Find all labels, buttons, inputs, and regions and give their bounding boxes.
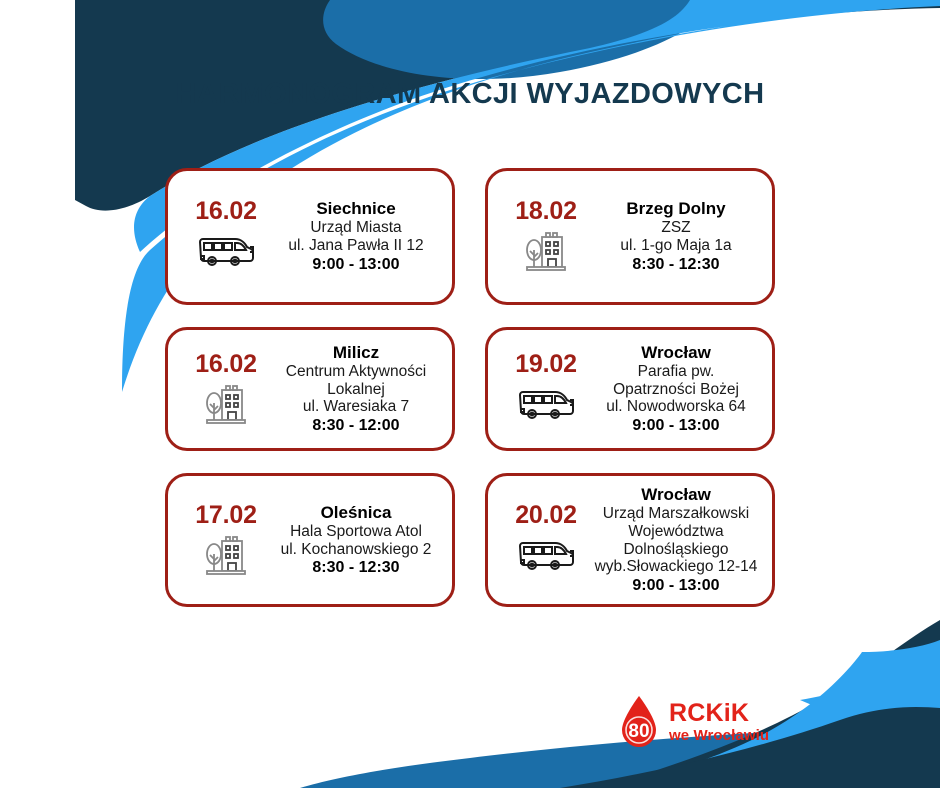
- card-hours: 8:30 - 12:30: [274, 559, 438, 577]
- card-date: 17.02: [195, 503, 257, 528]
- card-place: Centrum Aktywności: [274, 363, 438, 381]
- top-mid-blue-shape: [323, 0, 720, 79]
- card-info: Oleśnica Hala Sportowa Atol ul. Kochanow…: [274, 503, 440, 578]
- bottom-right-light-blue-wave: [800, 652, 940, 744]
- card-city: Brzeg Dolny: [594, 199, 758, 218]
- card-info: Wrocław Parafia pw. Opatrzności Bożej ul…: [594, 343, 760, 436]
- card-hours: 9:00 - 13:00: [594, 417, 758, 435]
- schedule-card[interactable]: 19.02: [485, 327, 775, 451]
- schedule-card[interactable]: 18.02: [485, 168, 775, 305]
- card-hours: 8:30 - 12:30: [594, 256, 758, 274]
- schedule-card[interactable]: 16.02: [165, 327, 455, 451]
- building-tree-icon: [195, 381, 257, 427]
- card-hours: 9:00 - 13:00: [594, 577, 758, 595]
- card-city: Wrocław: [594, 343, 758, 362]
- card-date: 18.02: [515, 199, 577, 224]
- poster: HARMONOGRAM AKCJI WYJAZDOWYCH 16.02: [0, 0, 940, 788]
- schedule-row: 16.02: [0, 327, 940, 451]
- bus-icon: [515, 381, 577, 427]
- logo-subtitle: we Wrocławiu: [669, 728, 769, 743]
- schedule-row: 16.02: [0, 168, 940, 305]
- schedule-grid: 16.02: [0, 168, 940, 629]
- card-left-column: 16.02: [178, 352, 274, 427]
- card-address: ul. 1-go Maja 1a: [594, 237, 758, 255]
- card-address: ul. Nowodworska 64: [594, 398, 758, 416]
- card-date: 19.02: [515, 352, 577, 377]
- card-place: Urząd Marszałkowski: [594, 505, 758, 523]
- bus-icon: [515, 532, 577, 578]
- card-city: Milicz: [274, 343, 438, 362]
- card-place: Hala Sportowa Atol: [274, 523, 438, 541]
- card-date: 16.02: [195, 352, 257, 377]
- card-place: Parafia pw.: [594, 363, 758, 381]
- card-info: Milicz Centrum Aktywności Lokalnej ul. W…: [274, 343, 440, 436]
- card-place-line2: Województwa Dolnośląskiego: [594, 523, 758, 558]
- card-left-column: 16.02: [178, 199, 274, 274]
- card-address: ul. Kochanowskiego 2: [274, 541, 438, 559]
- logo-name: RCKiK: [669, 701, 769, 726]
- card-place-line2: Lokalnej: [274, 381, 438, 399]
- card-place: ZSZ: [594, 219, 758, 237]
- card-info: Brzeg Dolny ZSZ ul. 1-go Maja 1a 8:30 - …: [594, 199, 760, 274]
- schedule-card[interactable]: 16.02: [165, 168, 455, 305]
- logo-text: RCKiK we Wrocławiu: [669, 701, 769, 743]
- card-hours: 9:00 - 13:00: [274, 256, 438, 274]
- rckik-logo: 80 RCKiK we Wrocławiu: [616, 694, 769, 750]
- page-title: HARMONOGRAM AKCJI WYJAZDOWYCH: [0, 78, 940, 111]
- card-address: ul. Waresiaka 7: [274, 398, 438, 416]
- card-city: Siechnice: [274, 199, 438, 218]
- card-date: 20.02: [515, 503, 577, 528]
- schedule-card[interactable]: 17.02: [165, 473, 455, 607]
- logo-mark-number: 80: [628, 721, 649, 742]
- schedule-card[interactable]: 20.02: [485, 473, 775, 607]
- card-hours: 8:30 - 12:00: [274, 417, 438, 435]
- schedule-row: 17.02: [0, 473, 940, 607]
- bus-icon: [195, 228, 257, 274]
- card-left-column: 18.02: [498, 199, 594, 274]
- card-address: ul. Jana Pawła II 12: [274, 237, 438, 255]
- card-city: Wrocław: [594, 485, 758, 504]
- card-address: wyb.Słowackiego 12-14: [594, 558, 758, 576]
- card-place-line2: Opatrzności Bożej: [594, 381, 758, 399]
- building-tree-icon: [515, 228, 577, 274]
- card-left-column: 20.02: [498, 503, 594, 578]
- card-left-column: 19.02: [498, 352, 594, 427]
- card-info: Siechnice Urząd Miasta ul. Jana Pawła II…: [274, 199, 440, 274]
- card-info: Wrocław Urząd Marszałkowski Województwa …: [594, 485, 760, 595]
- card-left-column: 17.02: [178, 503, 274, 578]
- building-tree-icon: [195, 532, 257, 578]
- card-city: Oleśnica: [274, 503, 438, 522]
- card-place: Urząd Miasta: [274, 219, 438, 237]
- card-date: 16.02: [195, 199, 257, 224]
- blood-drop-icon: 80: [616, 694, 662, 750]
